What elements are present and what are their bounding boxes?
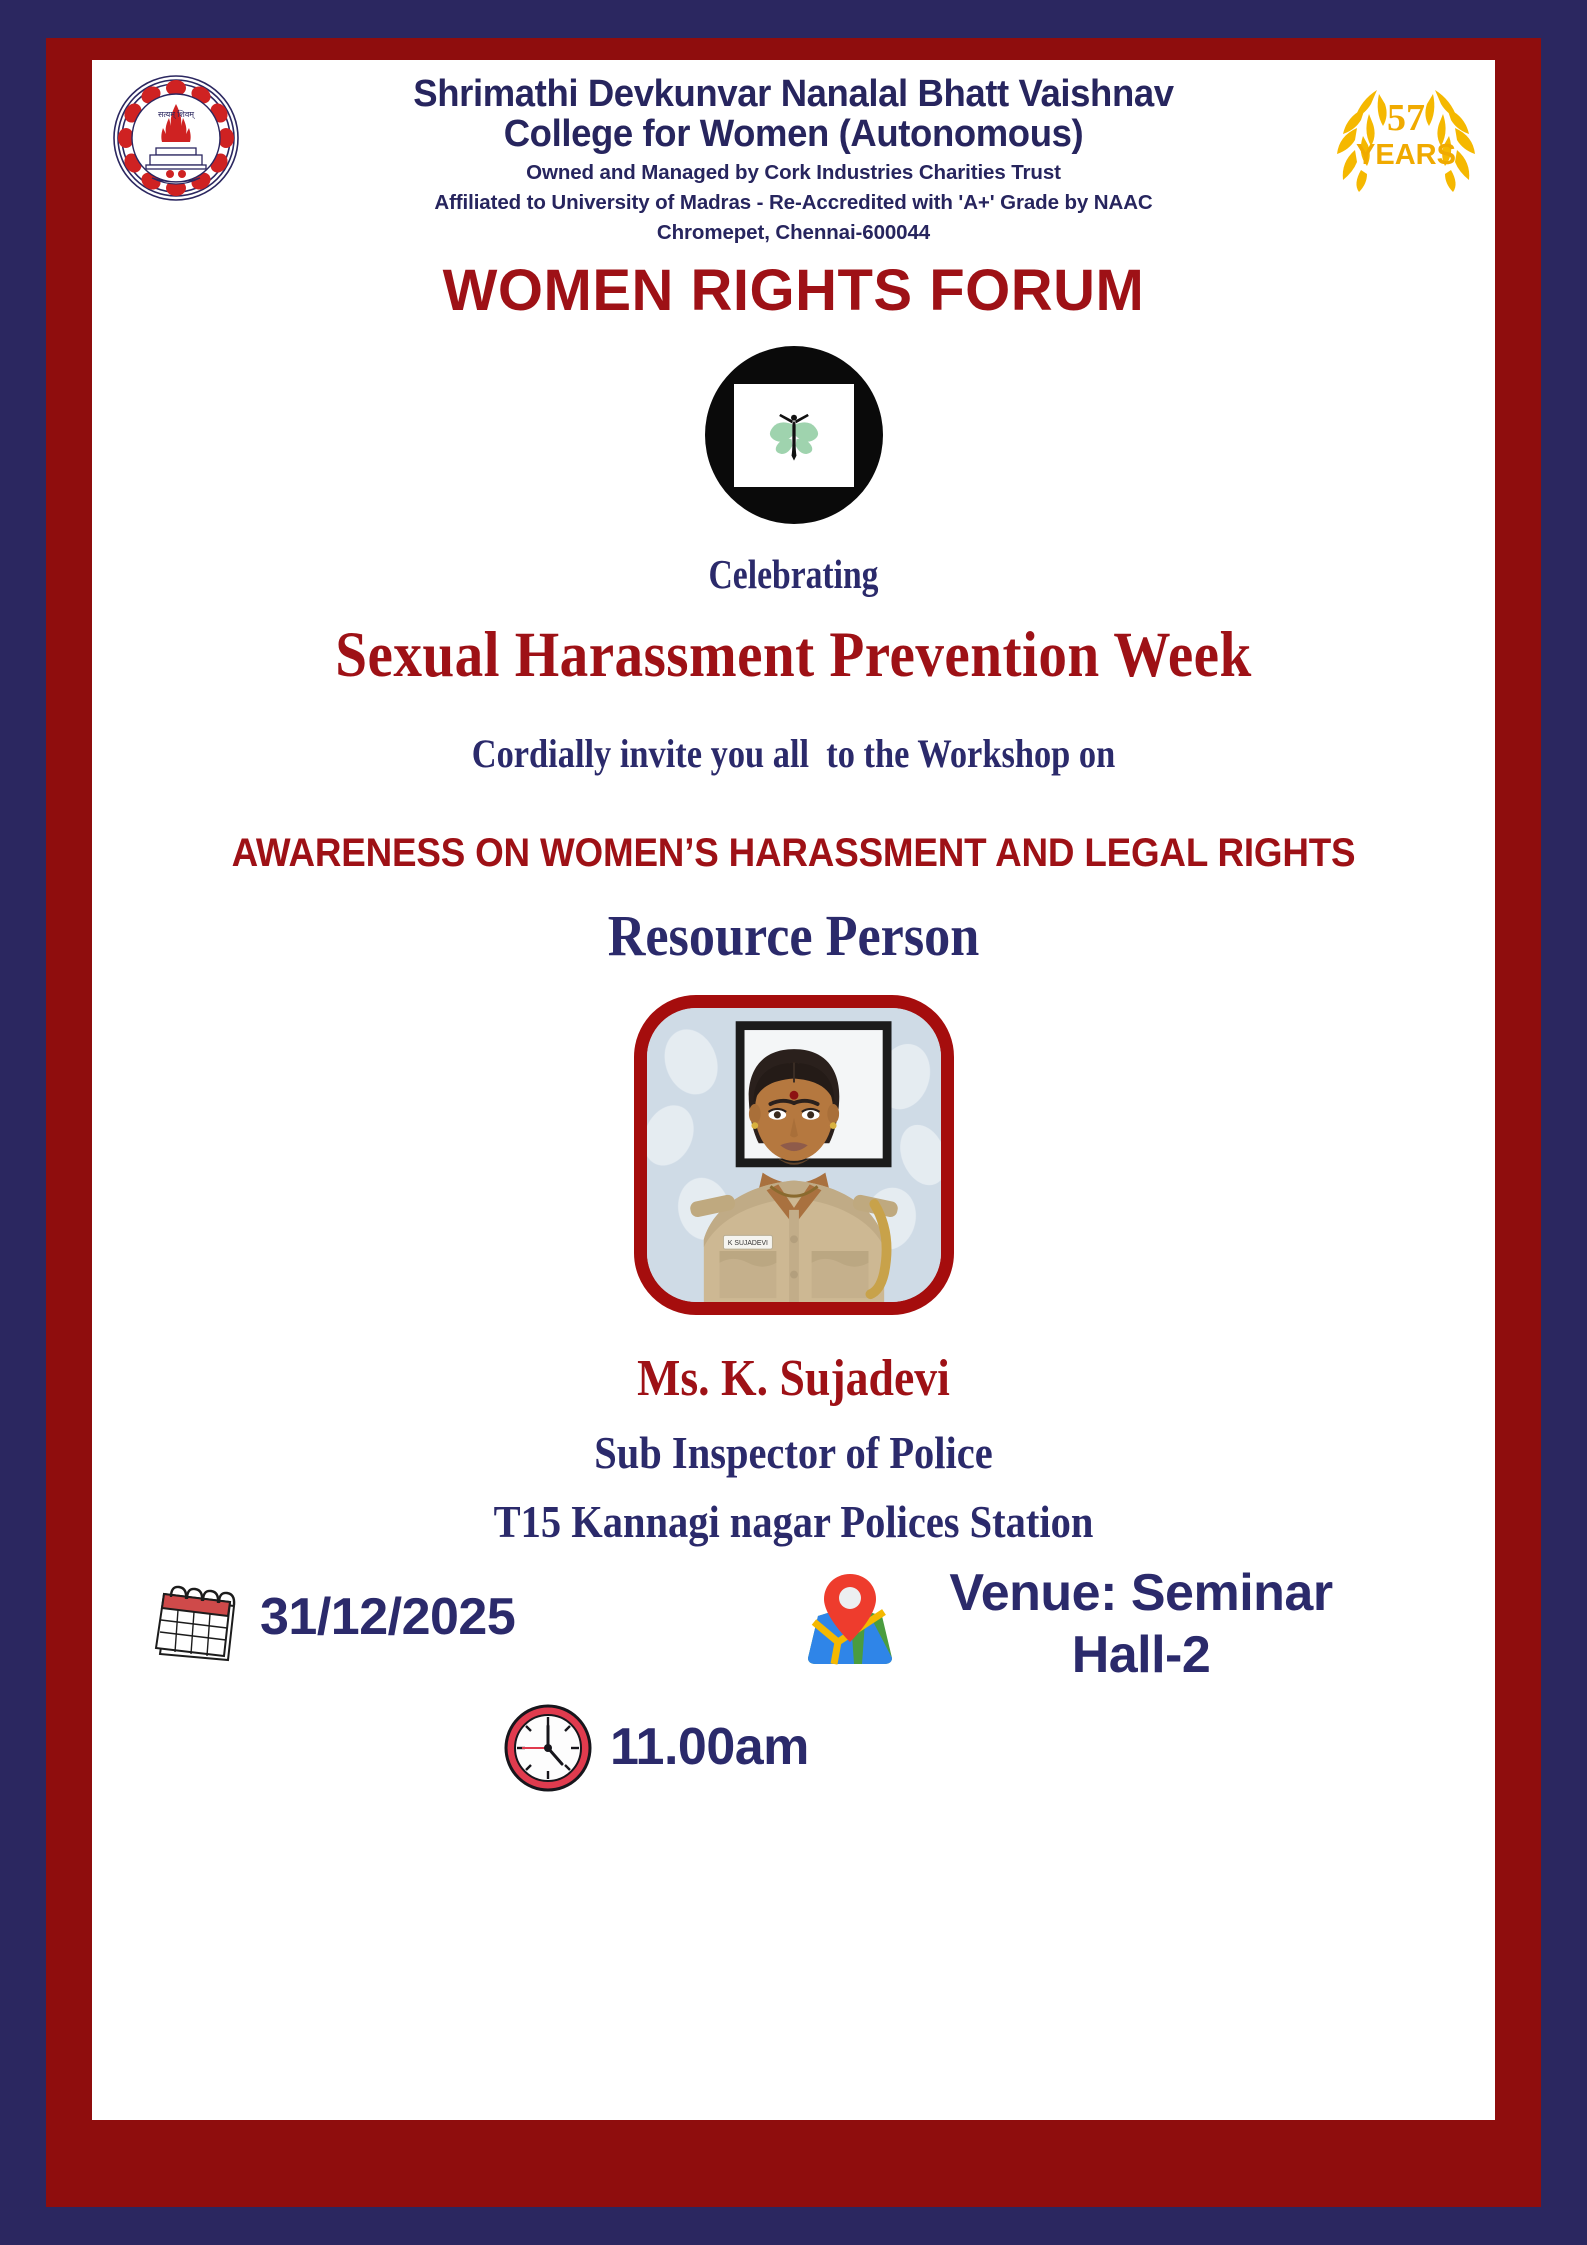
event-date-block: 31/12/2025	[144, 1570, 515, 1666]
years-badge-number: 57	[1387, 97, 1425, 139]
butterfly-woman-emblem-icon	[705, 346, 883, 524]
forum-emblem-wrap	[92, 346, 1495, 524]
workshop-topic: AWARENESS ON WOMEN’S HARASSMENT AND LEGA…	[148, 831, 1439, 876]
celebrating-label: Celebrating	[218, 550, 1368, 598]
resource-person-label: Resource Person	[162, 902, 1425, 969]
uniform-name-tag: K SUJADEVI	[727, 1240, 767, 1247]
forum-title: WOMEN RIGHTS FORUM	[92, 257, 1495, 324]
svg-text:सत्यम् शिवम्: सत्यम् शिवम्	[158, 109, 196, 120]
speaker-designation: Sub Inspector of Police	[176, 1426, 1411, 1479]
laurel-wreath-icon: 57 YEARS	[1331, 72, 1481, 192]
event-time: 11.00am	[610, 1718, 809, 1778]
event-logistics: 31/12/2025	[92, 1562, 1495, 1812]
college-name-line1: Shrimathi Devkunvar Nanalal Bhatt Vaishn…	[288, 74, 1299, 114]
event-poster: सत्यम् शिवम्	[0, 0, 1587, 2245]
event-venue-line2: Hall-2	[1072, 1626, 1211, 1684]
years-badge-label: YEARS	[1356, 139, 1456, 171]
event-venue-line1: Venue: Seminar	[949, 1564, 1332, 1622]
college-crest-icon: सत्यम् शिवम्	[112, 74, 240, 202]
college-sub-line2: Affiliated to University of Madras - Re-…	[267, 190, 1320, 215]
college-name-line2: College for Women (Autonomous)	[288, 114, 1299, 154]
event-time-block: 11.00am	[502, 1702, 809, 1794]
clock-icon	[502, 1702, 594, 1794]
poster-content-sheet: सत्यम् शिवम्	[92, 60, 1495, 2120]
speaker-portrait-police-officer: K SUJADEVI	[634, 995, 954, 1315]
college-sub-line1: Owned and Managed by Cork Industries Cha…	[267, 160, 1320, 185]
event-date: 31/12/2025	[260, 1588, 515, 1648]
speaker-station: T15 Kannagi nagar Polices Station	[176, 1495, 1411, 1548]
speaker-name: Ms. K. Sujadevi	[176, 1349, 1411, 1408]
calendar-icon	[144, 1570, 248, 1666]
event-venue: Venue: Seminar Hall-2	[912, 1562, 1356, 1687]
week-title: Sexual Harassment Prevention Week	[176, 618, 1411, 693]
college-sub-line3: Chromepet, Chennai-600044	[267, 220, 1320, 245]
map-pin-icon	[792, 1566, 908, 1676]
invite-line: Cordially invite you all to the Workshop…	[190, 730, 1397, 777]
speaker-photo-wrap: K SUJADEVI	[92, 995, 1495, 1315]
event-venue-block: Venue: Seminar Hall-2	[792, 1562, 1356, 1687]
poster-header: सत्यम् शिवम्	[92, 60, 1495, 224]
